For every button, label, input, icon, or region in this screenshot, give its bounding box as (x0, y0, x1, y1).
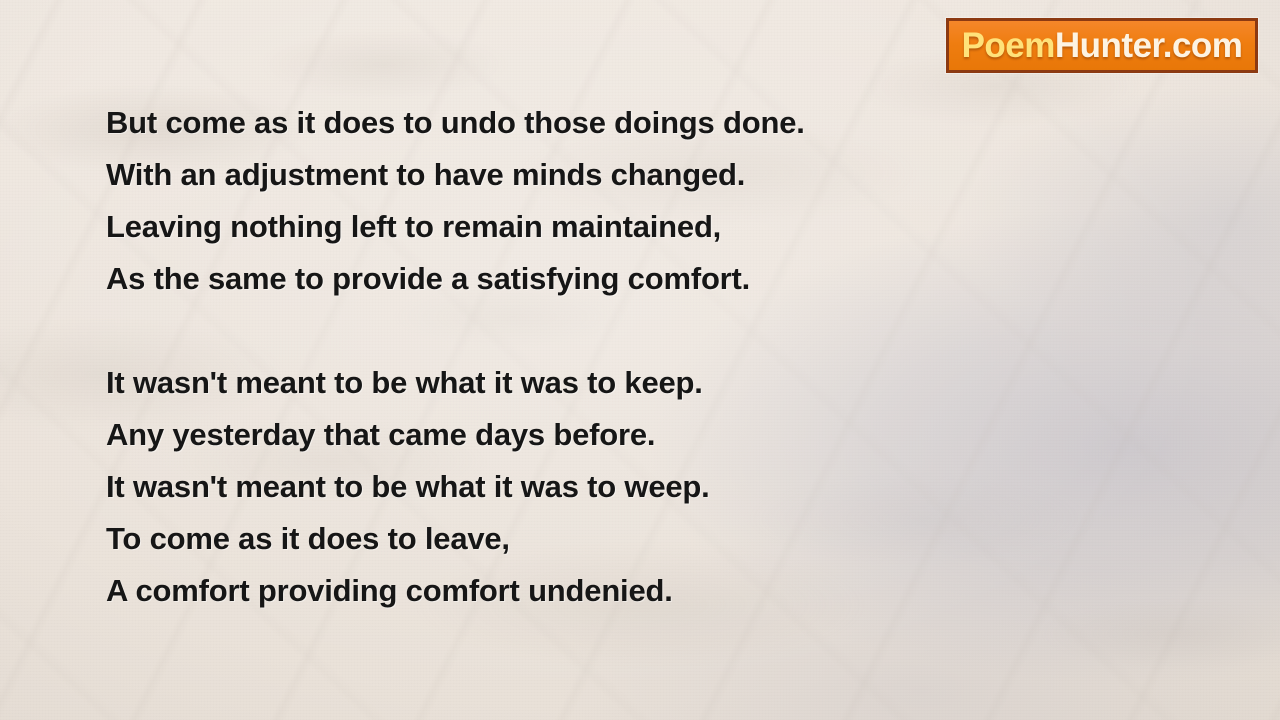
poem-stanza: But come as it does to undo those doings… (106, 97, 966, 305)
poem-line: A comfort providing comfort undenied. (106, 565, 966, 617)
poemhunter-logo[interactable]: PoemHunter.com (946, 18, 1258, 73)
poem-line: Any yesterday that came days before. (106, 409, 966, 461)
poemhunter-logo-text: PoemHunter.com (962, 28, 1243, 63)
poem-stanza: It wasn't meant to be what it was to kee… (106, 357, 966, 617)
poem-body: But come as it does to undo those doings… (106, 97, 966, 617)
logo-word-com: .com (1163, 26, 1243, 65)
poem-line: With an adjustment to have minds changed… (106, 149, 966, 201)
poem-line: It wasn't meant to be what it was to kee… (106, 357, 966, 409)
poem-line: But come as it does to undo those doings… (106, 97, 966, 149)
poem-line: It wasn't meant to be what it was to wee… (106, 461, 966, 513)
poem-line: As the same to provide a satisfying comf… (106, 253, 966, 305)
poem-line: To come as it does to leave, (106, 513, 966, 565)
logo-word-hunter: Hunter (1055, 26, 1163, 65)
poem-slide: PoemHunter.com But come as it does to un… (0, 0, 1280, 720)
logo-word-poem: Poem (962, 26, 1055, 65)
poem-line: Leaving nothing left to remain maintaine… (106, 201, 966, 253)
